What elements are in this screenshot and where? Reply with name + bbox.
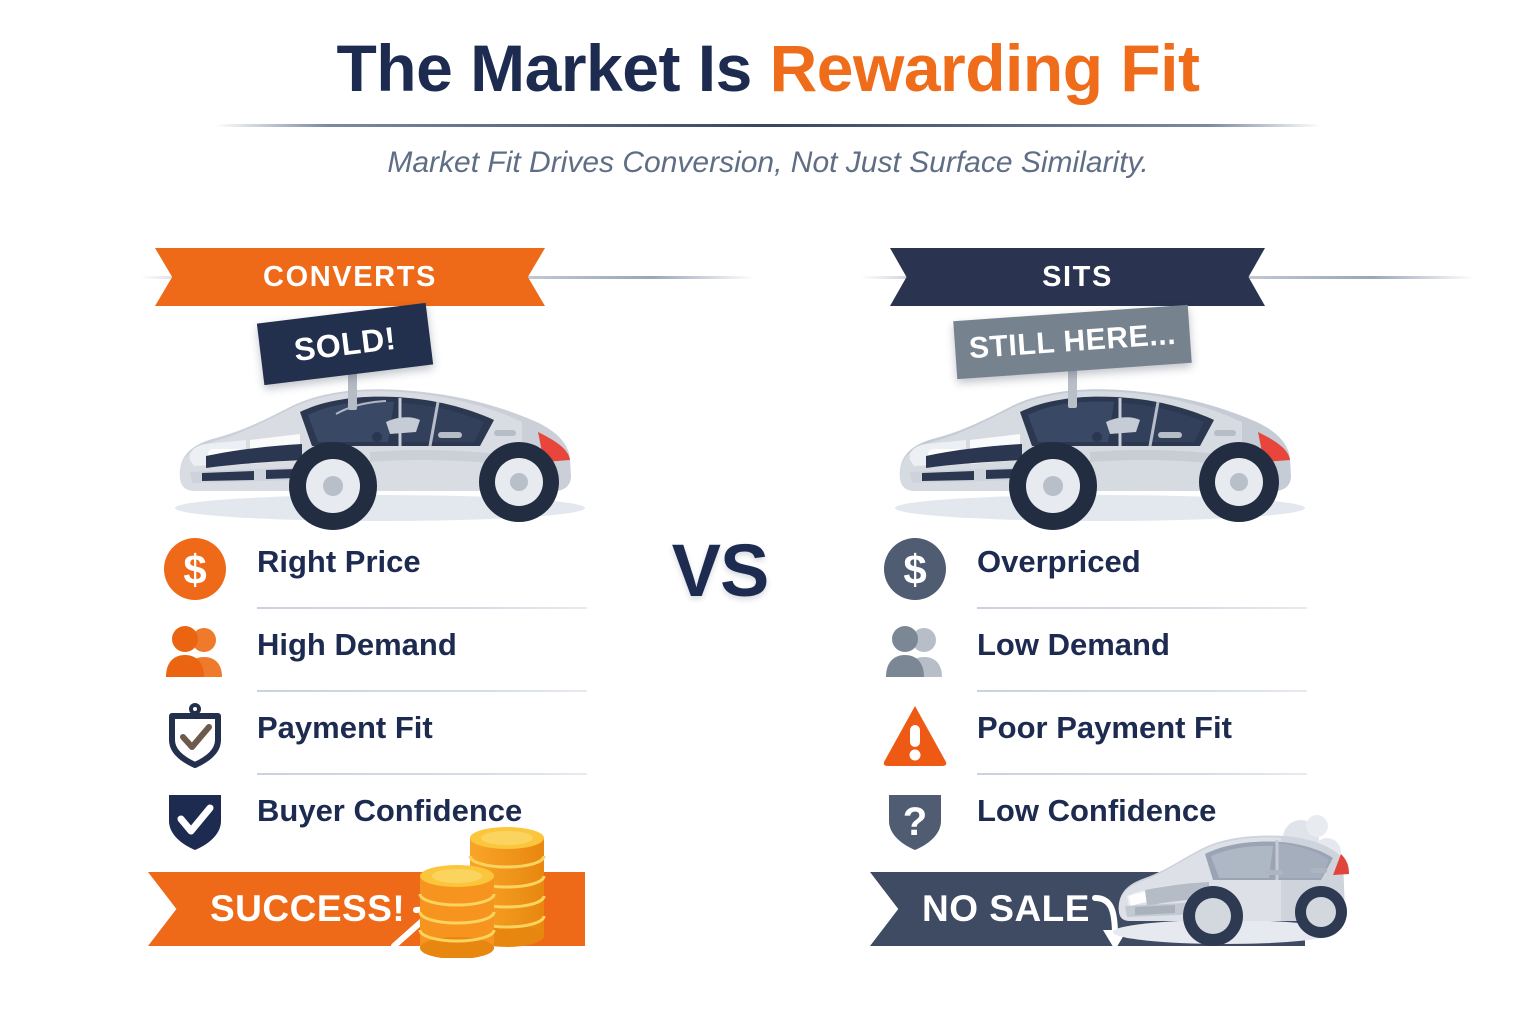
list-item-label: Poor Payment Fit bbox=[977, 710, 1232, 746]
list-divider bbox=[977, 690, 1307, 692]
shield-check-outline-icon bbox=[162, 702, 228, 768]
warning-triangle-icon bbox=[882, 702, 948, 768]
shield-question-icon: ? bbox=[882, 785, 948, 851]
ribbon-tail-right bbox=[1245, 276, 1475, 279]
list-item[interactable]: High Demand bbox=[152, 615, 592, 698]
list-item[interactable]: Low Demand bbox=[872, 615, 1312, 698]
dollar-circle-icon: $ bbox=[882, 536, 948, 602]
people-group-icon bbox=[882, 619, 948, 685]
column-sits: SITS bbox=[860, 0, 1320, 1024]
list-item[interactable]: Payment Fit bbox=[152, 698, 592, 781]
list-item-label: High Demand bbox=[257, 627, 457, 663]
list-item-label: Overpriced bbox=[977, 544, 1141, 580]
svg-text:$: $ bbox=[183, 546, 206, 593]
list-divider bbox=[257, 607, 587, 609]
infographic-canvas: The Market Is Rewarding Fit Market Fit D… bbox=[0, 0, 1536, 1024]
versus-label: VS bbox=[660, 528, 780, 613]
people-group-icon bbox=[162, 619, 228, 685]
ribbon-converts: CONVERTS bbox=[155, 248, 545, 306]
list-item-label: Right Price bbox=[257, 544, 421, 580]
ribbon-tail-right bbox=[525, 276, 755, 279]
sign-post-right bbox=[1068, 366, 1077, 408]
parked-car-icon bbox=[1105, 808, 1355, 958]
list-item-label: Low Demand bbox=[977, 627, 1170, 663]
car-illustration-right bbox=[870, 360, 1310, 530]
column-converts: CONVERTS bbox=[140, 0, 600, 1024]
list-divider bbox=[257, 773, 587, 775]
svg-text:$: $ bbox=[903, 546, 926, 593]
list-item[interactable]: $ Overpriced bbox=[872, 532, 1312, 615]
ribbon-sits: SITS bbox=[890, 248, 1265, 306]
dollar-circle-icon: $ bbox=[162, 536, 228, 602]
list-item[interactable]: $ Right Price bbox=[152, 532, 592, 615]
list-divider bbox=[977, 607, 1307, 609]
car-illustration-left bbox=[150, 360, 590, 530]
svg-text:?: ? bbox=[903, 800, 927, 844]
feature-list-left: $ Right Price High Demand bbox=[152, 532, 592, 864]
list-item[interactable]: Poor Payment Fit bbox=[872, 698, 1312, 781]
list-item-label: Payment Fit bbox=[257, 710, 433, 746]
list-divider bbox=[977, 773, 1307, 775]
list-divider bbox=[257, 690, 587, 692]
coin-stacks-icon bbox=[412, 818, 562, 958]
shield-check-solid-icon bbox=[162, 785, 228, 851]
